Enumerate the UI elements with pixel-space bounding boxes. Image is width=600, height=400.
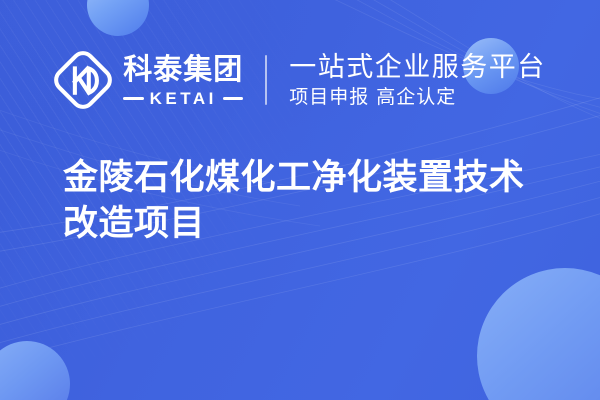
slogan-main: 一站式企业服务平台 <box>289 54 546 81</box>
header-divider <box>265 55 267 105</box>
ketai-diamond-monogram-icon <box>54 51 112 109</box>
brand-name-en: KETAI <box>150 90 217 107</box>
slogan-block: 一站式企业服务平台 项目申报 高企认定 <box>289 54 546 107</box>
brand-rule-right <box>223 97 243 100</box>
page-title: 金陵石化煤化工净化装置技术改造项目 <box>63 155 555 247</box>
promo-banner: 科泰集团 KETAI 一站式企业服务平台 项目申报 高企认定 金陵石化煤化工净化… <box>0 0 600 400</box>
brand-rule-left <box>123 97 143 100</box>
brand-lockup: 科泰集团 KETAI <box>54 51 243 109</box>
brand-name-en-row: KETAI <box>123 90 243 107</box>
brand-name-cn: 科泰集团 <box>123 55 243 84</box>
slogan-sub: 项目申报 高企认定 <box>289 88 546 107</box>
brand-text: 科泰集团 KETAI <box>123 54 243 107</box>
banner-header: 科泰集团 KETAI 一站式企业服务平台 项目申报 高企认定 <box>0 44 600 116</box>
